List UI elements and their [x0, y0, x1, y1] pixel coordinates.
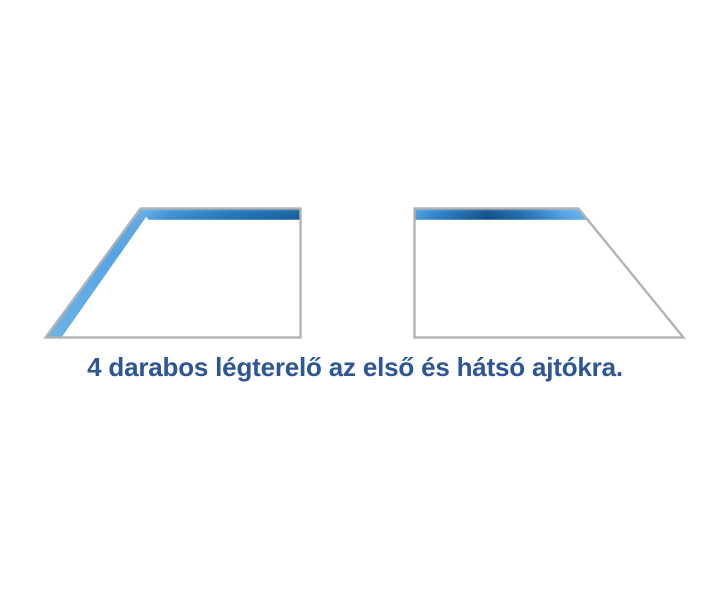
- rear-door-window-outline: [415, 209, 684, 338]
- rear-door-window-shape: [415, 209, 684, 338]
- front-deflector-strip-top-shading: [141, 209, 301, 220]
- front-door-window-outline: [46, 209, 301, 338]
- product-illustration: 4 darabos légterelő az első és hátsó ajt…: [0, 0, 710, 613]
- deflector-diagram: [0, 0, 710, 613]
- rear-deflector-strip-top-shading: [415, 209, 588, 220]
- front-door-window-shape: [46, 209, 301, 338]
- caption-text: 4 darabos légterelő az első és hátsó ajt…: [0, 352, 710, 383]
